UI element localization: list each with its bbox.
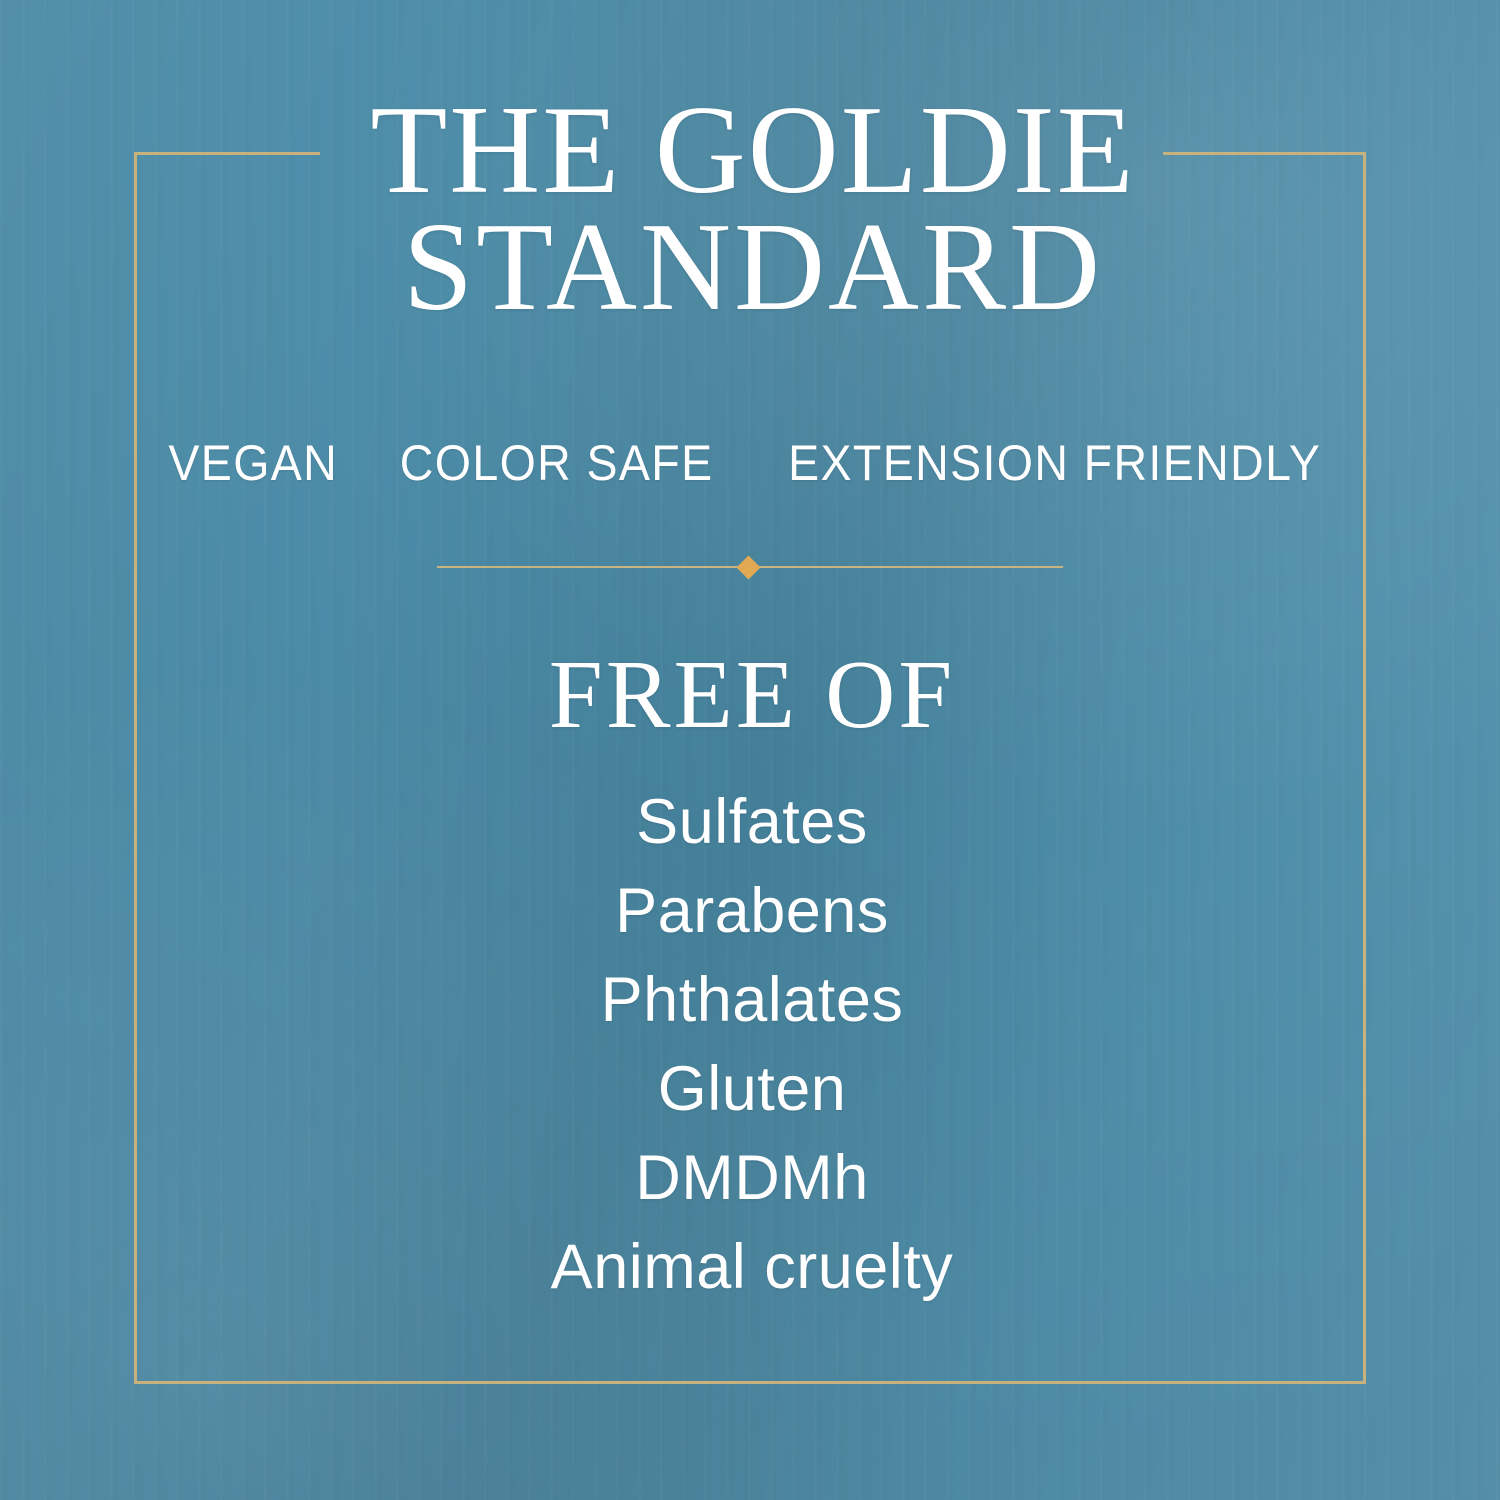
poster-title: THE GOLDIE STANDARD <box>0 92 1500 326</box>
list-item: Animal cruelty <box>4 1223 1500 1312</box>
list-item: DMDMh <box>4 1134 1500 1223</box>
claims-row: VEGAN COLOR SAFE EXTENSION FRIENDLY <box>0 434 1500 492</box>
free-of-heading: FREE OF <box>0 646 1500 743</box>
claim-vegan: VEGAN <box>169 434 339 492</box>
list-item: Sulfates <box>4 778 1500 867</box>
free-of-list: Sulfates Parabens Phthalates Gluten DMDM… <box>0 778 1500 1312</box>
diamond-ornament-icon <box>736 555 760 579</box>
poster-title-line-2: STANDARD <box>6 209 1500 326</box>
list-item: Phthalates <box>4 956 1500 1045</box>
frame-border-bottom <box>134 1381 1366 1384</box>
claim-color-safe: COLOR SAFE <box>400 434 714 492</box>
list-item: Gluten <box>4 1045 1500 1134</box>
goldie-standard-poster: THE GOLDIE STANDARD VEGAN COLOR SAFE EXT… <box>0 0 1500 1500</box>
list-item: Parabens <box>4 867 1500 956</box>
section-divider <box>437 558 1063 576</box>
claim-extension-friendly: EXTENSION FRIENDLY <box>788 434 1321 492</box>
poster-title-line-1: THE GOLDIE <box>6 92 1500 209</box>
